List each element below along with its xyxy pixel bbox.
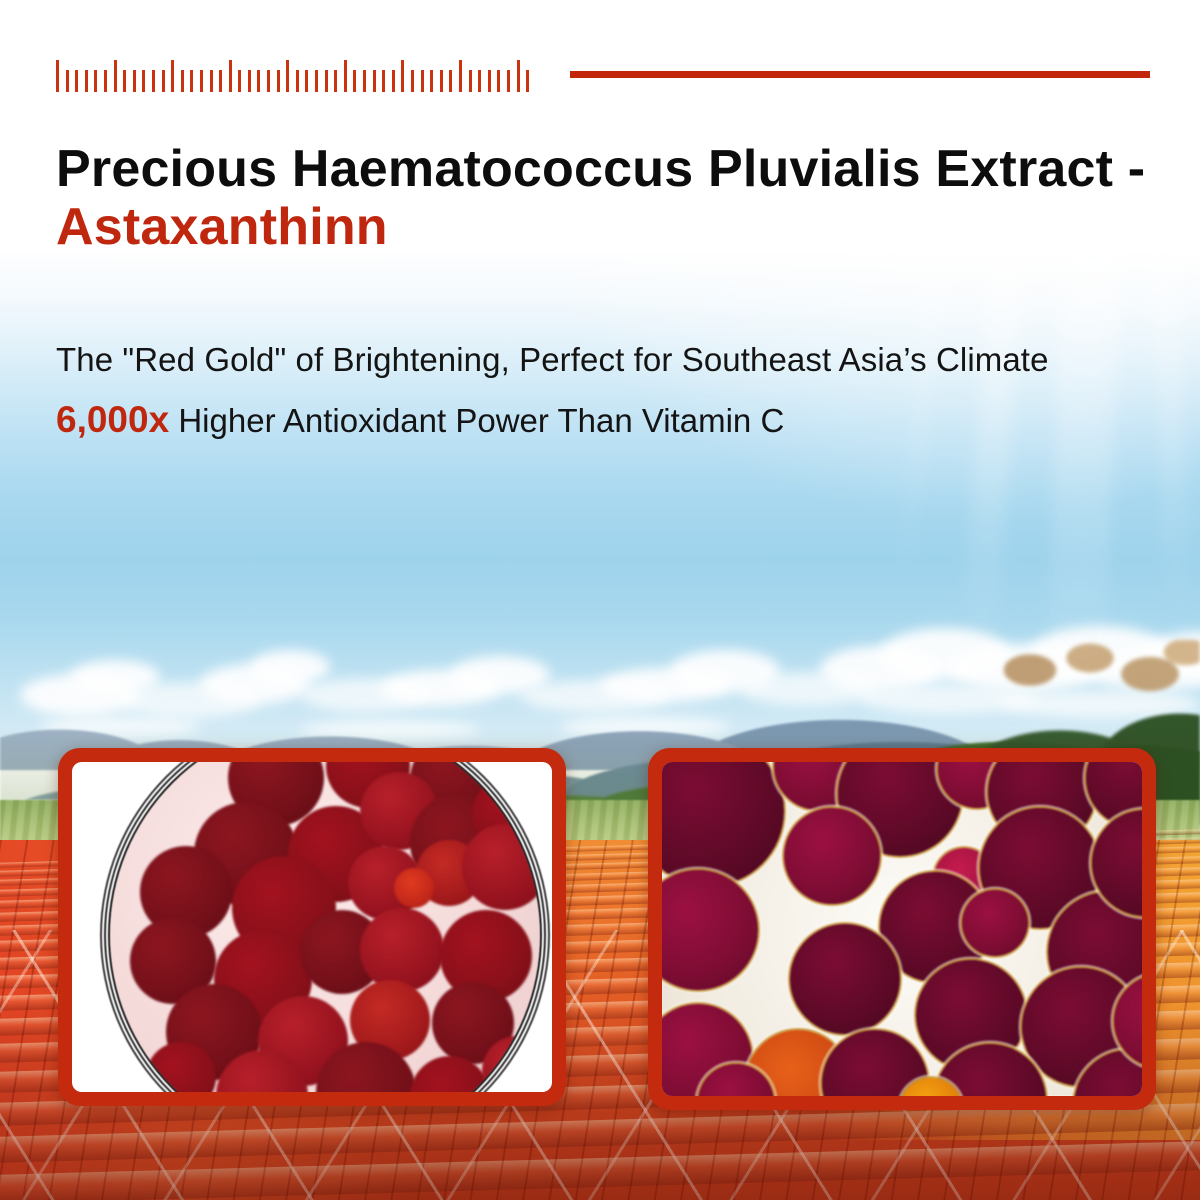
subtitle-line-1: The "Red Gold" of Brightening, Perfect f… <box>56 340 1176 380</box>
algae-colony <box>394 868 434 908</box>
ruler-tick <box>363 70 366 92</box>
ruler-tick <box>85 70 88 92</box>
header-block: Precious Haematococcus Pluvialis Extract… <box>0 0 1200 470</box>
poster-root: Precious Haematococcus Pluvialis Extract… <box>0 0 1200 1200</box>
ruler-tick <box>210 70 213 92</box>
ruler-tick <box>325 70 328 92</box>
ruler-tick <box>66 70 69 92</box>
ruler-tick <box>507 70 510 92</box>
ruler-tick <box>171 60 174 92</box>
ruler-tick <box>267 70 270 92</box>
ruler-tick <box>94 70 97 92</box>
astaxanthin-cell <box>662 762 784 886</box>
ruler-tick <box>229 60 232 92</box>
astaxanthin-cell <box>784 808 880 904</box>
ruler-tick <box>449 70 452 92</box>
ruler-tick <box>296 70 299 92</box>
algae-colony <box>360 908 444 992</box>
petri-dish-photo-card[interactable] <box>58 748 566 1106</box>
ruler-tick-decoration <box>56 60 536 92</box>
ruler-tick <box>401 60 404 92</box>
algae-colony <box>462 824 540 910</box>
ruler-tick <box>421 70 424 92</box>
subtitle-line-2: 6,000x Higher Antioxidant Power Than Vit… <box>56 398 1176 442</box>
astaxanthin-cell <box>790 924 900 1034</box>
ruler-tick <box>123 70 126 92</box>
petri-dish-photo <box>72 762 552 1092</box>
microscopy-image <box>662 762 1142 1096</box>
microscopy-photo-card[interactable] <box>648 748 1156 1110</box>
ruler-tick <box>238 70 241 92</box>
multiplier-highlight: 6,000x <box>56 399 169 440</box>
page-title-accent: Astaxanthinn <box>56 198 1166 256</box>
ruler-tick <box>56 60 59 92</box>
microscopy-photo <box>662 762 1142 1096</box>
ruler-tick <box>497 70 500 92</box>
page-title: Precious Haematococcus Pluvialis Extract… <box>56 140 1166 256</box>
ruler-tick <box>104 70 107 92</box>
ruler-tick <box>459 60 462 92</box>
astaxanthin-cell <box>962 890 1028 956</box>
ruler-tick <box>334 70 337 92</box>
ruler-tick <box>277 70 280 92</box>
petri-dish-rim <box>110 762 540 1092</box>
ruler-tick <box>315 70 318 92</box>
ruler-tick <box>162 70 165 92</box>
ruler-tick <box>392 70 395 92</box>
petri-dish-image <box>72 762 552 1092</box>
ruler-tick <box>133 70 136 92</box>
ruler-tick <box>488 70 491 92</box>
ruler-tick <box>181 70 184 92</box>
ruler-tick <box>200 70 203 92</box>
ruler-tick <box>440 70 443 92</box>
ruler-tick <box>373 70 376 92</box>
ruler-tick <box>190 70 193 92</box>
header-accent-bar <box>570 71 1150 78</box>
ruler-tick <box>142 70 145 92</box>
ruler-tick <box>382 70 385 92</box>
ruler-tick <box>114 60 117 92</box>
ruler-tick <box>286 60 289 92</box>
multiplier-rest: Higher Antioxidant Power Than Vitamin C <box>169 402 784 439</box>
ruler-tick <box>478 70 481 92</box>
ruler-tick <box>526 70 529 92</box>
ruler-tick <box>517 60 520 92</box>
ruler-tick <box>344 60 347 92</box>
ruler-tick <box>411 70 414 92</box>
ruler-tick <box>248 70 251 92</box>
ruler-tick <box>305 70 308 92</box>
ruler-tick <box>219 70 222 92</box>
astaxanthin-cell <box>662 870 758 990</box>
page-title-line1: Precious Haematococcus Pluvialis Extract… <box>56 140 1145 198</box>
ruler-tick <box>469 70 472 92</box>
ruler-tick <box>430 70 433 92</box>
ruler-tick <box>257 70 260 92</box>
ruler-tick <box>353 70 356 92</box>
ruler-tick <box>152 70 155 92</box>
ruler-tick <box>75 70 78 92</box>
